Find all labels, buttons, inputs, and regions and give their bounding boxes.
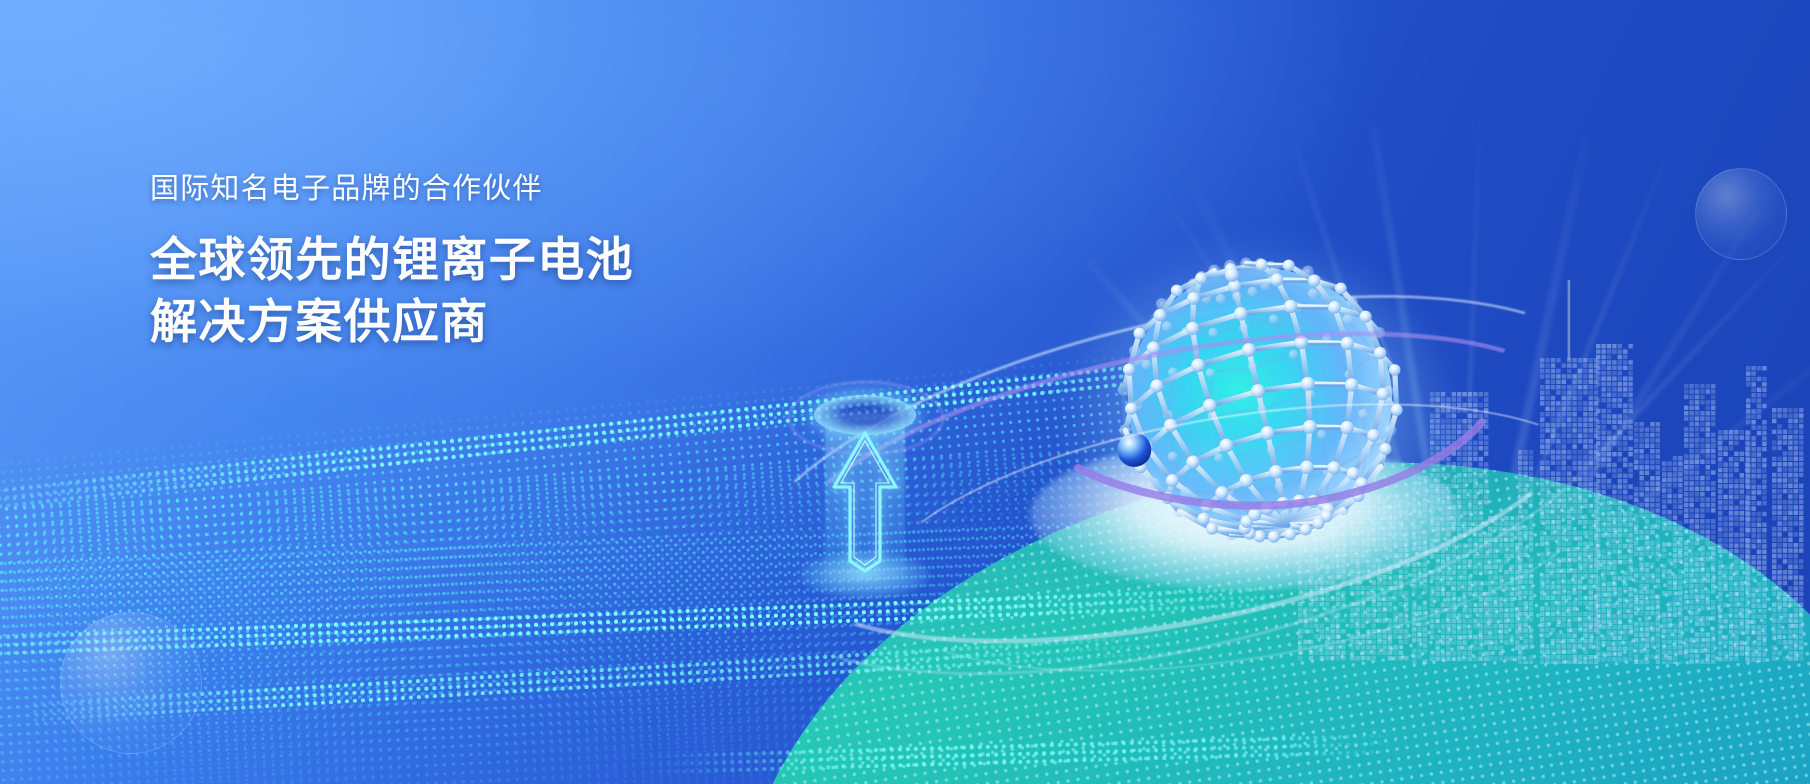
globe-node <box>1283 260 1295 272</box>
globe-node <box>1260 426 1274 440</box>
globe-node <box>1300 524 1312 536</box>
headline-line-2: 解决方案供应商 <box>150 291 790 353</box>
globe-wireframe-svg <box>1020 200 1500 600</box>
globe-node <box>1327 461 1340 474</box>
globe-node <box>1215 486 1228 499</box>
wireframe-globe <box>1020 200 1500 600</box>
globe-node <box>1379 443 1391 455</box>
globe-node <box>1269 314 1279 324</box>
translucent-bubble <box>1695 168 1787 260</box>
globe-node <box>1256 259 1268 271</box>
globe-node <box>1248 508 1261 521</box>
globe-node <box>1303 420 1317 434</box>
globe-node <box>1171 285 1183 297</box>
globe-node <box>1294 335 1308 349</box>
globe-node <box>1367 429 1380 442</box>
globe-node <box>1206 523 1218 535</box>
globe-node <box>1164 419 1177 432</box>
globe-node <box>1147 342 1160 355</box>
globe-node <box>1360 311 1372 323</box>
hero-banner: 国际知名电子品牌的合作伙伴 全球领先的锂离子电池 解决方案供应商 <box>0 0 1810 784</box>
upward-growth-arrow <box>770 375 960 605</box>
globe-node <box>1234 307 1248 321</box>
headline-line-1: 全球领先的锂离子电池 <box>150 229 790 291</box>
globe-node <box>1328 301 1341 314</box>
globe-node <box>1195 272 1207 284</box>
globe-node <box>1214 453 1224 463</box>
globe-node <box>1268 531 1280 543</box>
globe-node <box>1166 474 1179 487</box>
globe-node <box>1335 283 1347 295</box>
globe-node <box>1300 460 1314 474</box>
arrow-up-icon <box>770 375 960 605</box>
globe-node <box>1150 379 1163 392</box>
globe-node <box>1374 347 1387 360</box>
globe-node <box>1125 402 1138 415</box>
globe-node <box>1154 309 1166 321</box>
translucent-bubble <box>60 612 202 754</box>
globe-node <box>1340 421 1353 434</box>
globe-node <box>1341 337 1354 350</box>
globe-accent-node <box>1117 433 1151 467</box>
globe-node <box>1284 300 1297 313</box>
hero-copy: 国际知名电子品牌的合作伙伴 全球领先的锂离子电池 解决方案供应商 <box>150 172 790 353</box>
globe-node <box>1141 359 1151 369</box>
globe-node <box>1251 384 1265 398</box>
globe-node <box>1270 273 1283 286</box>
globe-node <box>1123 364 1135 376</box>
globe-node <box>1308 288 1318 298</box>
globe-node <box>1308 274 1320 286</box>
globe-node <box>1203 399 1217 413</box>
globe-node <box>1186 455 1199 468</box>
globe-node <box>1216 294 1226 304</box>
globe-node <box>1284 528 1296 540</box>
globe-node <box>1312 517 1324 529</box>
globe-node <box>1191 359 1205 373</box>
globe-node <box>1133 328 1145 340</box>
globe-node <box>1269 465 1283 479</box>
globe-node <box>1358 409 1368 419</box>
globe-node <box>1197 513 1209 525</box>
globe-node <box>1205 368 1214 377</box>
globe-node <box>1186 322 1199 335</box>
globe-node <box>1239 474 1253 488</box>
globe-node <box>1168 452 1178 462</box>
globe-node <box>1187 292 1200 305</box>
globe-node <box>1289 350 1298 359</box>
globe-node <box>1391 404 1403 416</box>
globe-strut <box>1301 342 1347 343</box>
globe-node <box>1389 364 1401 376</box>
globe-node <box>1347 467 1360 480</box>
globe-node <box>1219 439 1233 453</box>
globe-node <box>1242 343 1256 357</box>
globe-node <box>1162 321 1172 331</box>
globe-strut <box>1395 370 1397 410</box>
globe-node <box>1301 377 1315 391</box>
globe-node <box>1247 287 1257 297</box>
globe-node <box>1317 430 1327 440</box>
globe-node <box>1377 388 1390 401</box>
eyebrow-text: 国际知名电子品牌的合作伙伴 <box>150 172 790 207</box>
globe-node <box>1345 378 1358 391</box>
globe-node <box>1225 268 1239 282</box>
globe-node <box>1342 314 1352 324</box>
page-title: 全球领先的锂离子电池 解决方案供应商 <box>150 229 790 353</box>
globe-node <box>1208 328 1218 338</box>
